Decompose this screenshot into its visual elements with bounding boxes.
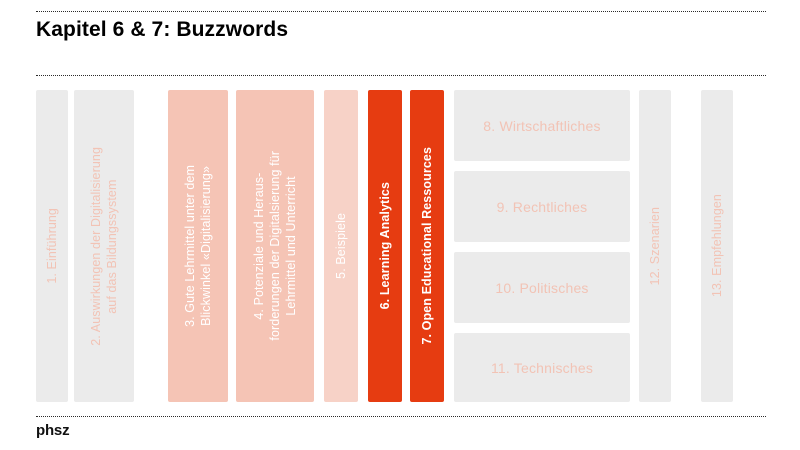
- agenda-item-10-politisches[interactable]: 10. Politisches: [454, 252, 630, 323]
- agenda-item-12-szenarien[interactable]: 12. Szenarien: [639, 90, 671, 402]
- agenda-item-12-label: 12. Szenarien: [647, 207, 663, 285]
- agenda-item-13-empfehlungen[interactable]: 13. Empfehlungen: [701, 90, 733, 402]
- agenda-item-3-gute-lehrmittel[interactable]: 3. Gute Lehrmittel unter dem Blickwinkel…: [168, 90, 228, 402]
- agenda-item-11-label: 11. Technisches: [491, 360, 593, 376]
- agenda-item-7-label: 7. Open Educational Ressources: [419, 147, 435, 345]
- agenda-item-3-label: 3. Gute Lehrmittel unter dem Blickwinkel…: [182, 165, 214, 327]
- agenda-item-9-rechtliches[interactable]: 9. Rechtliches: [454, 171, 630, 242]
- top-divider-rule: [36, 11, 766, 12]
- slide-canvas: Kapitel 6 & 7: Buzzwords 1. Einführung 2…: [0, 0, 800, 450]
- agenda-item-1-label: 1. Einführung: [44, 208, 60, 284]
- agenda-item-5-beispiele[interactable]: 5. Beispiele: [324, 90, 358, 402]
- agenda-item-1-einfuehrung[interactable]: 1. Einführung: [36, 90, 68, 402]
- agenda-item-8-wirtschaftliches[interactable]: 8. Wirtschaftliches: [454, 90, 630, 161]
- agenda-item-13-label: 13. Empfehlungen: [709, 194, 725, 297]
- agenda-stack-8-to-11: 8. Wirtschaftliches 9. Rechtliches 10. P…: [454, 90, 630, 402]
- agenda-item-4-label: 4. Potenziale und Heraus- forderungen de…: [251, 151, 299, 341]
- agenda-item-7-open-educational-ressources[interactable]: 7. Open Educational Ressources: [410, 90, 444, 402]
- title-divider-rule: [36, 75, 766, 76]
- agenda-item-9-label: 9. Rechtliches: [497, 199, 588, 215]
- page-title: Kapitel 6 & 7: Buzzwords: [36, 18, 288, 42]
- agenda-item-4-potenziale[interactable]: 4. Potenziale und Heraus- forderungen de…: [236, 90, 314, 402]
- footer-divider-rule: [36, 416, 766, 417]
- agenda-item-2-label: 2. Auswirkungen der Digitalisierung auf …: [88, 147, 120, 346]
- agenda-item-6-label: 6. Learning Analytics: [377, 182, 393, 309]
- agenda-item-8-label: 8. Wirtschaftliches: [483, 118, 600, 134]
- agenda-item-6-learning-analytics[interactable]: 6. Learning Analytics: [368, 90, 402, 402]
- agenda-item-2-auswirkungen[interactable]: 2. Auswirkungen der Digitalisierung auf …: [74, 90, 134, 402]
- agenda-diagram: 1. Einführung 2. Auswirkungen der Digita…: [36, 90, 766, 402]
- agenda-item-11-technisches[interactable]: 11. Technisches: [454, 333, 630, 402]
- agenda-item-5-label: 5. Beispiele: [333, 213, 349, 279]
- agenda-item-10-label: 10. Politisches: [495, 280, 588, 296]
- phsz-logo: phsz: [36, 422, 69, 439]
